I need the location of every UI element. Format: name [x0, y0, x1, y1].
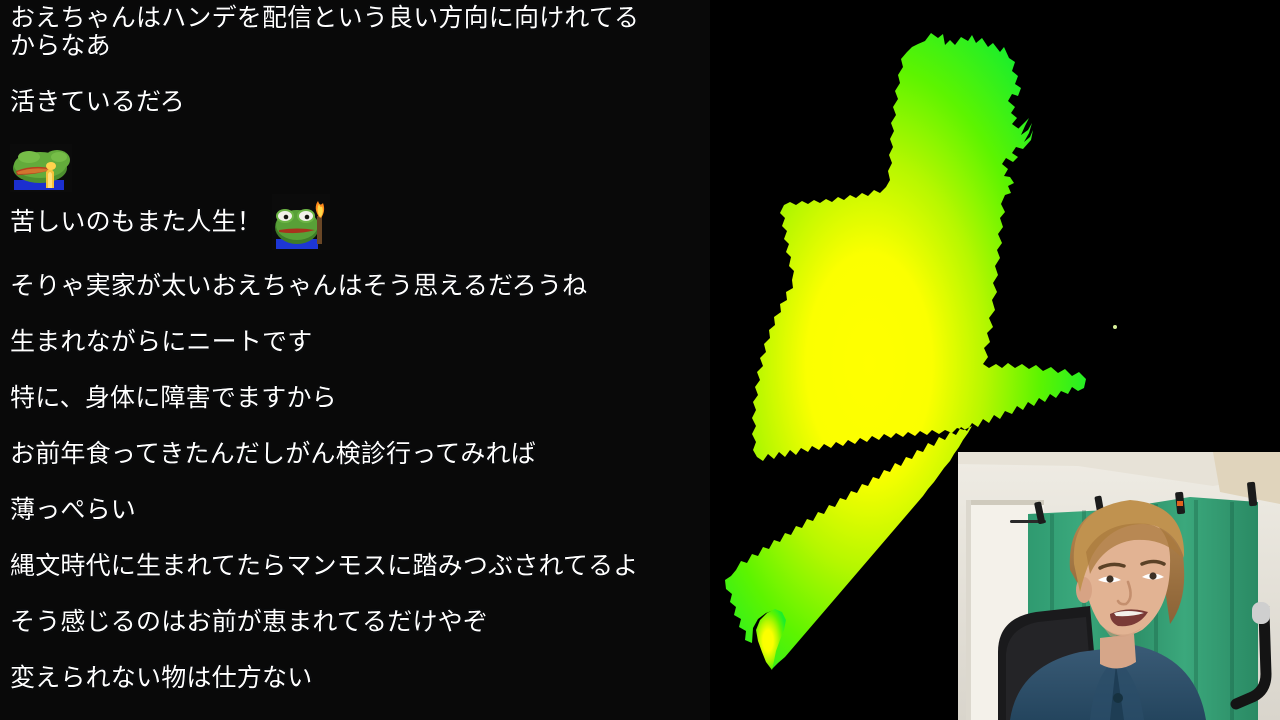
chat-message: 薄っぺらい [10, 496, 702, 524]
chat-line: 薄っぺらい [10, 496, 702, 524]
webcam-feed [958, 452, 1280, 720]
chat-line: 生まれながらにニートです [10, 328, 702, 356]
chat-line: 変えられない物は仕方ない [10, 664, 702, 692]
chat-line: お前年食ってきたんだしがん検診行ってみれば [10, 440, 702, 468]
stream-screen: おえちゃんはハンデを配信という良い方向に向けれてる からなあ 活きているだろ [0, 0, 1280, 720]
pepe-torch-emote [272, 194, 330, 250]
chat-message: 縄文時代に生まれてたらマンモスに踏みつぶされてるよ [10, 552, 702, 580]
chat-message: 苦しいのもまた人生！ [10, 194, 702, 250]
chat-message: そりゃ実家が太いおえちゃんはそう思えるだろうね [10, 272, 702, 300]
chat-message: お前年食ってきたんだしがん検診行ってみれば [10, 440, 702, 468]
chat-message: そう感じるのはお前が恵まれてるだけやぞ [10, 608, 702, 636]
chat-line: 縄文時代に生まれてたらマンモスに踏みつぶされてるよ [10, 552, 702, 580]
chat-message: 活きているだろ [10, 88, 702, 116]
chat-line: 苦しいのもまた人生！ [10, 208, 262, 236]
chat-message: 生まれながらにニートです [10, 328, 702, 356]
chat-comment-panel[interactable]: おえちゃんはハンデを配信という良い方向に向けれてる からなあ 活きているだろ [0, 0, 712, 720]
chat-line: からなあ [10, 32, 702, 60]
offshore-island-dot [1113, 325, 1117, 329]
chat-message: 特に、身体に障害でますから [10, 384, 702, 412]
panel-divider [710, 0, 712, 720]
chat-line: そう感じるのはお前が恵まれてるだけやぞ [10, 608, 702, 636]
pepe-pray-emote [10, 144, 72, 192]
chat-message: 変えられない物は仕方ない [10, 664, 702, 692]
chat-line: 活きているだろ [10, 88, 702, 116]
chat-line: 特に、身体に障害でますから [10, 384, 702, 412]
chat-line: おえちゃんはハンデを配信という良い方向に向けれてる [10, 4, 702, 32]
chat-line: そりゃ実家が太いおえちゃんはそう思えるだろうね [10, 272, 702, 300]
chat-message: おえちゃんはハンデを配信という良い方向に向けれてる からなあ [10, 4, 702, 60]
chat-message [10, 144, 702, 192]
streamer-webcam[interactable] [958, 452, 1280, 720]
